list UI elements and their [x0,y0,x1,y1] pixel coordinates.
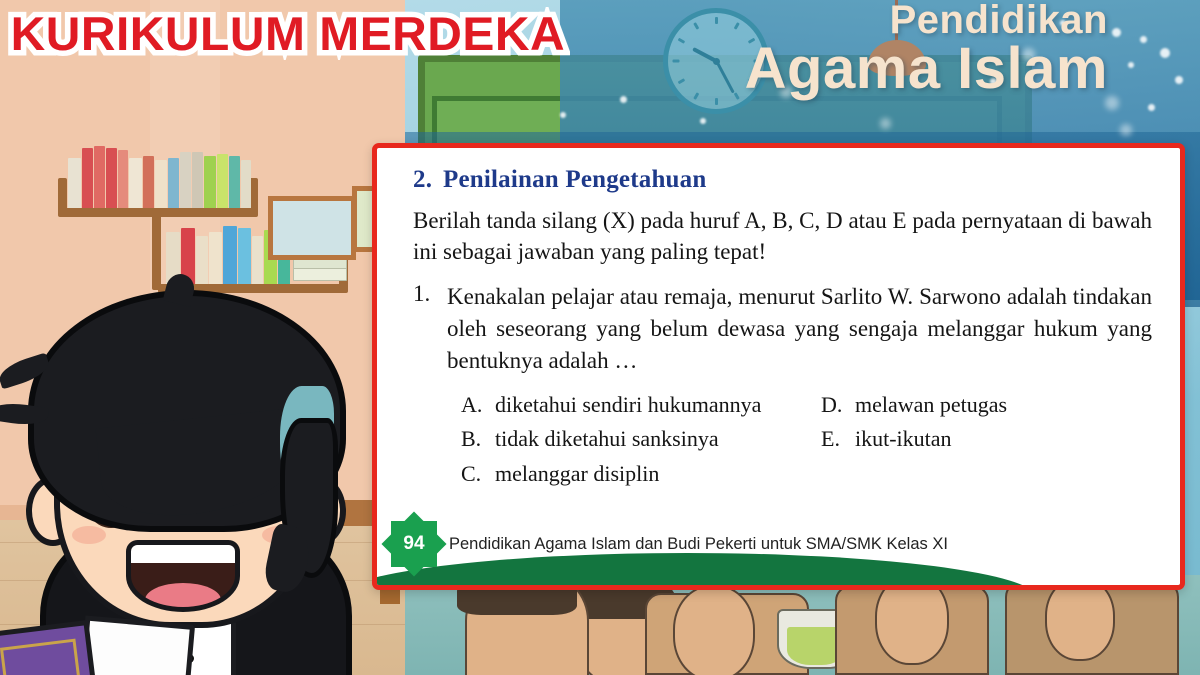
answer-options: A. diketahui sendiri hukumannya B. tidak… [461,388,1158,490]
option-e[interactable]: E. ikut-ikutan [821,422,1007,456]
option-a-label: A. [461,388,495,422]
document-panel: 2.Penilainan Pengetahuan Berilah tanda s… [372,143,1185,590]
document-footer: 94 Pendidikan Agama Islam dan Budi Peker… [391,521,948,567]
student-character [0,268,380,675]
option-b[interactable]: B. tidak diketahui sanksinya [461,422,821,456]
course-title: Pendidikan Agama Islam [745,2,1108,96]
option-a-text: diketahui sendiri hukumannya [495,388,761,422]
instruction-text: Berilah tanda silang (X) pada huruf A, B… [413,206,1152,267]
option-d-label: D. [821,388,855,422]
option-c-text: melanggar disiplin [495,457,659,491]
course-title-line1: Pendidikan [745,2,1108,40]
option-e-text: ikut-ikutan [855,422,952,456]
section-number: 2. [413,166,443,194]
section-title: Penilainan Pengetahuan [443,166,706,193]
page-title: KURIKULUM MERDEKA [11,6,566,62]
option-a[interactable]: A. diketahui sendiri hukumannya [461,388,821,422]
poster-canvas: Pendidikan Agama Islam KURIKULUM MERDEKA… [0,0,1200,675]
picture-frame [268,196,356,260]
page-number-badge: 94 [391,521,437,567]
question-row: 1. Kenakalan pelajar atau remaja, menuru… [413,281,1152,376]
options-column-left: A. diketahui sendiri hukumannya B. tidak… [461,388,821,490]
youth-illustration [405,575,1200,675]
option-c[interactable]: C. melanggar disiplin [461,457,821,491]
footer-text: Pendidikan Agama Islam dan Budi Pekerti … [449,535,948,554]
course-title-line2: Agama Islam [745,42,1108,97]
page-number: 94 [391,521,437,567]
option-b-label: B. [461,422,495,456]
section-heading: 2.Penilainan Pengetahuan [413,166,1158,194]
question-number: 1. [413,281,447,376]
option-c-label: C. [461,457,495,491]
option-e-label: E. [821,422,855,456]
question-text: Kenakalan pelajar atau remaja, menurut S… [447,281,1152,376]
option-b-text: tidak diketahui sanksinya [495,422,719,456]
option-d-text: melawan petugas [855,388,1007,422]
option-d[interactable]: D. melawan petugas [821,388,1007,422]
options-column-right: D. melawan petugas E. ikut-ikutan [821,388,1007,490]
